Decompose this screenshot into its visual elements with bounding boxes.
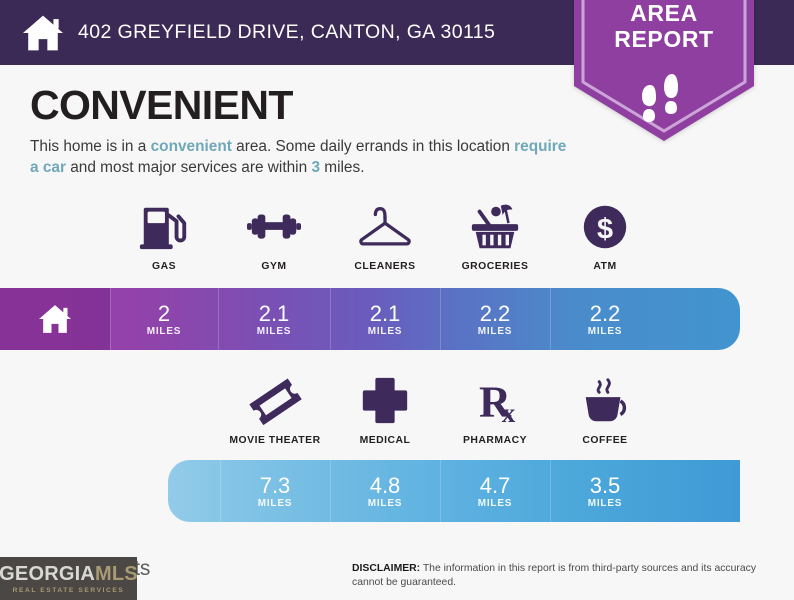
georgia-mls-watermark: GEORGIA MLS REAL ESTATE SERVICES [0,557,137,600]
distance-value: 2.1 [259,302,290,325]
distance-unit: MILES [478,498,513,509]
distance-unit: MILES [368,326,403,337]
dumbbell-icon-wrap [214,198,334,254]
distance-unit: MILES [588,498,623,509]
intro-highlight: convenient [151,138,232,155]
amenity-label: GAS [104,261,224,272]
dumbbell-icon [245,200,303,254]
hanger-icon [356,200,414,254]
amenity-label: COFFEE [540,435,670,446]
home-icon [22,13,64,53]
amenity-groceries: GROCERIES [435,198,555,272]
amenity-label: GYM [214,261,334,272]
watermark-subtitle: REAL ESTATE SERVICES [13,587,125,594]
grocery-basket-icon [466,200,524,254]
intro-text: miles. [320,159,364,176]
intro-highlight: 3 [311,159,320,176]
cell-divider [440,288,441,350]
coffee-cup-icon-wrap [540,372,670,428]
watermark-mls: MLS [95,564,138,584]
amenity-cleaners: CLEANERS [325,198,445,272]
disclaimer-label: DISCLAIMER: [352,563,420,574]
ribbon-home-marker [0,288,110,350]
distance-cell-pharmacy: 4.7MILES [440,460,550,522]
distance-cell-medical: 4.8MILES [330,460,440,522]
cell-divider [550,460,551,522]
cell-divider [330,460,331,522]
amenity-gas: GAS [104,198,224,272]
amenity-label: ATM [545,261,665,272]
gas-pump-icon-wrap [104,198,224,254]
svg-text:$: $ [597,214,613,246]
cell-divider [110,288,111,350]
disclaimer: DISCLAIMER: The information in this repo… [352,562,787,589]
distance-value: 2.2 [590,302,621,325]
medical-cross-icon [356,374,414,428]
distance-bar-row-1: 2MILES2.1MILES2.1MILES2.2MILES2.2MILES [0,288,740,350]
distance-unit: MILES [147,326,182,337]
amenity-atm: $ATM [545,198,665,272]
hanger-icon-wrap [325,198,445,254]
distance-cell-coffee: 3.5MILES [550,460,660,522]
distance-value: 4.8 [370,474,401,497]
distance-unit: MILES [368,498,403,509]
distance-value: 2 [158,302,170,325]
amenity-label: CLEANERS [325,261,445,272]
page-title: CONVENIENT [30,82,293,129]
amenity-label: GROCERIES [435,261,555,272]
intro-text: This home is in a [30,138,151,155]
intro-paragraph: This home is in a convenient area. Some … [30,136,570,178]
distance-unit: MILES [478,326,513,337]
intro-text: and most major services are within [66,159,311,176]
area-report-infographic: 402 GREYFIELD DRIVE, CANTON, GA 30115 AR… [0,0,794,600]
grocery-basket-icon-wrap [435,198,555,254]
distance-bar-row-2: 7.3MILES4.8MILES4.7MILES3.5MILES [168,460,740,522]
distance-unit: MILES [258,498,293,509]
distance-cell-gym: 2.1MILES [218,288,330,350]
distance-unit: MILES [257,326,292,337]
distance-ribbon-row-1: 2MILES2.1MILES2.1MILES2.2MILES2.2MILES [0,288,794,350]
badge-shape [566,0,762,145]
cell-divider [330,288,331,350]
cell-divider [218,288,219,350]
svg-text:x: x [502,398,516,428]
cell-divider [440,460,441,522]
amenity-gym: GYM [214,198,334,272]
distance-value: 2.1 [370,302,401,325]
distance-value: 2.2 [480,302,511,325]
distance-cell-cleaners: 2.1MILES [330,288,440,350]
distance-value: 7.3 [260,474,291,497]
home-icon [38,303,72,335]
rx-icon: Rx [466,374,524,428]
intro-text: area. Some daily errands in this locatio… [232,138,514,155]
distance-value: 4.7 [480,474,511,497]
header-content: 402 GREYFIELD DRIVE, CANTON, GA 30115 [0,0,495,65]
cell-divider [550,288,551,350]
dollar-circle-icon: $ [576,200,634,254]
watermark-georgia: GEORGIA [0,564,95,584]
distance-unit: MILES [588,326,623,337]
distance-cell-groceries: 2.2MILES [440,288,550,350]
coffee-cup-icon [576,374,634,428]
cell-divider [220,460,221,522]
dollar-circle-icon-wrap: $ [545,198,665,254]
distance-cell-movie-theater: 7.3MILES [220,460,330,522]
distance-cell-gas: 2MILES [110,288,218,350]
distance-value: 3.5 [590,474,621,497]
area-report-badge: AREA REPORT [566,0,762,145]
ticket-icon [246,374,304,428]
distance-cell-atm: 2.2MILES [550,288,660,350]
watermark-title: GEORGIA MLS [0,564,138,584]
gas-pump-icon [135,200,193,254]
property-address: 402 GREYFIELD DRIVE, CANTON, GA 30115 [78,21,495,44]
amenity-coffee: COFFEE [540,372,670,446]
